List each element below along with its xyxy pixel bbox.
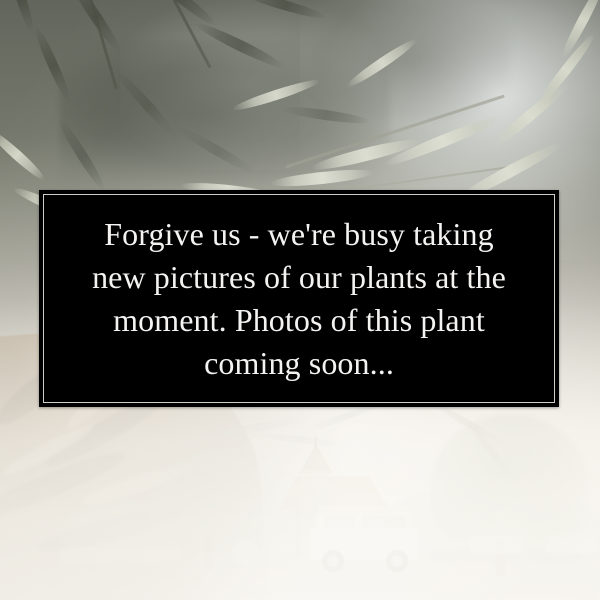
background-scene <box>0 400 600 600</box>
lamp-post <box>190 516 193 564</box>
potted-plant-row <box>60 548 180 562</box>
placeholder-image: Forgive us - we're busy taking new pictu… <box>0 0 600 600</box>
vehicle-wheel <box>322 550 344 572</box>
vehicle-window <box>324 516 354 528</box>
topiary-ball <box>232 540 258 566</box>
parked-vehicle-far <box>546 536 596 554</box>
vehicle-wheel <box>386 550 408 572</box>
olive-leaf <box>0 127 48 184</box>
olive-leaf-dark <box>3 0 37 35</box>
message-overlay-box: Forgive us - we're busy taking new pictu… <box>39 190 559 407</box>
overlay-message-text: Forgive us - we're busy taking new pictu… <box>51 213 547 385</box>
vehicle-roof-rack <box>318 506 410 511</box>
lamp-post <box>296 496 300 558</box>
parked-vehicle-far <box>470 536 524 554</box>
vehicle-window <box>362 516 406 528</box>
tree-trunk <box>205 532 213 570</box>
